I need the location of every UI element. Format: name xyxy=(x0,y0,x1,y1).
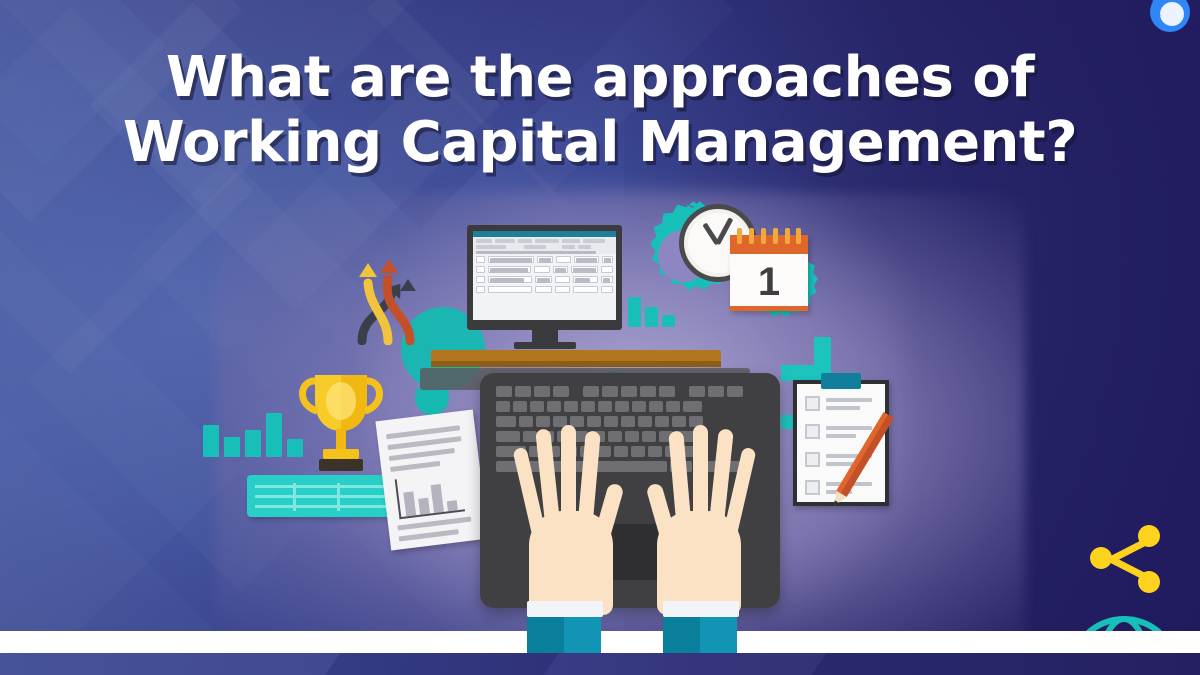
desk-edge xyxy=(431,361,721,367)
desk-calendar-icon: 1 xyxy=(730,235,808,311)
shirt-cuff-left xyxy=(527,601,603,617)
report-document-icon xyxy=(375,410,488,551)
share-network-icon xyxy=(1090,525,1164,597)
typing-hand-right xyxy=(651,425,746,615)
sleeve-right-over-bar-shade xyxy=(700,631,737,653)
circular-brand-logo-icon[interactable] xyxy=(1136,0,1192,38)
typing-hand-left xyxy=(523,425,618,615)
bottom-dark-bar xyxy=(0,653,1200,675)
clipboard-clip xyxy=(821,373,861,389)
shirt-cuff-right xyxy=(663,601,739,617)
spreadsheet-grid xyxy=(473,254,616,298)
calendar-day-number: 1 xyxy=(730,254,808,310)
illustration-group: 1 xyxy=(185,175,1055,645)
sleeve-left-over-bar-shade xyxy=(564,631,601,653)
share-node-top xyxy=(1138,525,1160,547)
share-node-left xyxy=(1090,547,1112,569)
share-node-bottom xyxy=(1138,571,1160,593)
teal-keyboard-icon xyxy=(247,475,397,517)
desk-surface xyxy=(431,350,721,361)
spreadsheet-toolbar xyxy=(473,237,616,254)
three-direction-arrows-icon xyxy=(348,253,426,345)
trophy-icon xyxy=(295,365,387,477)
desktop-monitor xyxy=(467,225,622,330)
monitor-screen xyxy=(473,231,616,320)
banner-image: 1 xyxy=(0,0,1200,675)
